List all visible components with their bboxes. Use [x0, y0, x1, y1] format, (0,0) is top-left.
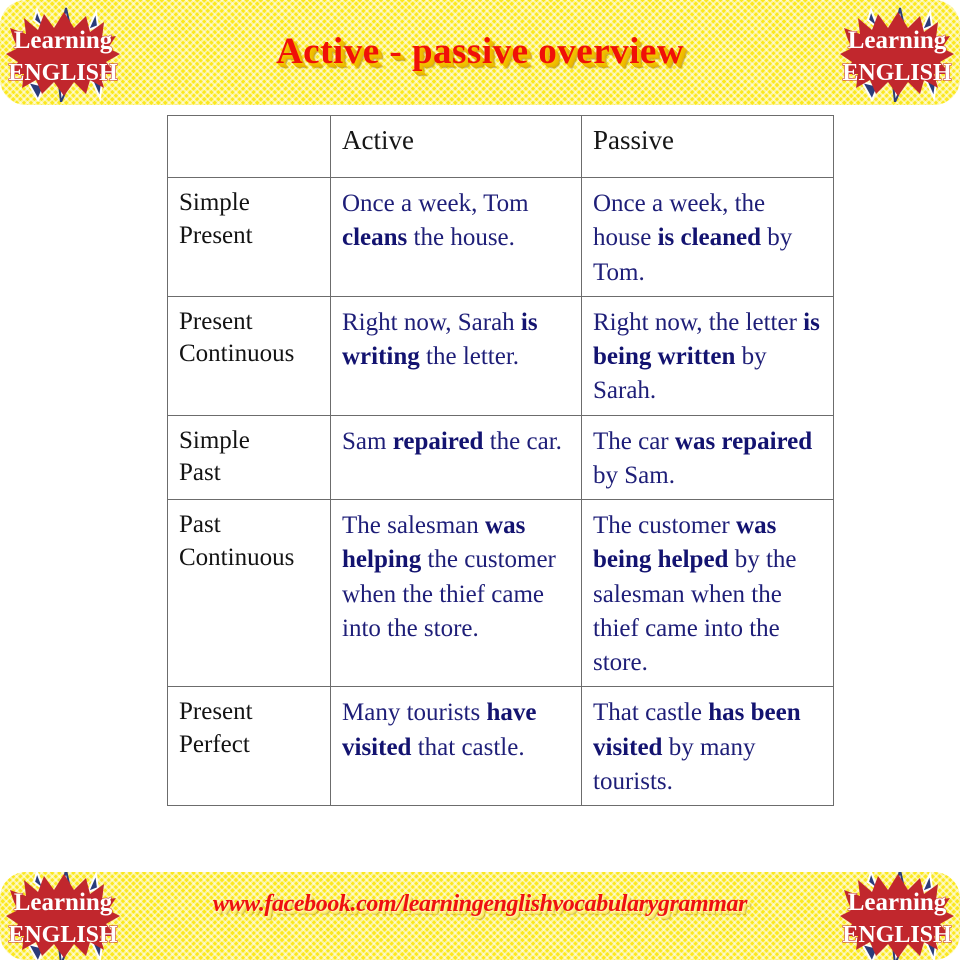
active-sentence-cell: Many tourists have visited that castle. — [331, 687, 582, 806]
table-body: Simple PresentOnce a week, Tom cleans th… — [168, 178, 834, 806]
page-title: Active - passive overview — [0, 30, 960, 73]
table-row: Simple PresentOnce a week, Tom cleans th… — [168, 178, 834, 297]
verb-phrase: is cleaned — [658, 224, 761, 251]
header-cell-passive: Passive — [582, 116, 834, 178]
logo-text-english: ENGLISH — [842, 922, 952, 948]
active-sentence-cell: Right now, Sarah is writing the letter. — [331, 296, 582, 415]
active-passive-table: Active Passive Simple PresentOnce a week… — [167, 115, 834, 806]
passive-sentence-cell: That castle has been visited by many tou… — [582, 687, 834, 806]
passive-sentence-cell: Once a week, the house is cleaned by Tom… — [582, 178, 834, 297]
active-sentence-cell: Sam repaired the car. — [331, 415, 582, 500]
logo-text-english: ENGLISH — [8, 922, 118, 948]
tense-cell: Simple Past — [168, 415, 331, 500]
table-row: Present PerfectMany tourists have visite… — [168, 687, 834, 806]
table-row: Past ContinuousThe salesman was helping … — [168, 500, 834, 687]
tense-cell: Past Continuous — [168, 500, 331, 687]
header-cell-active: Active — [331, 116, 582, 178]
verb-phrase: was repaired — [675, 428, 812, 455]
table-clip-region: Active Passive Simple PresentOnce a week… — [0, 0, 960, 872]
verb-phrase: is being written — [593, 309, 820, 370]
table-row: Simple PastSam repaired the car.The car … — [168, 415, 834, 500]
verb-phrase: cleans — [342, 224, 407, 251]
verb-phrase: repaired — [393, 428, 484, 455]
passive-sentence-cell: Right now, the letter is being written b… — [582, 296, 834, 415]
active-sentence-cell: Once a week, Tom cleans the house. — [331, 178, 582, 297]
facebook-url[interactable]: www.facebook.com/learningenglishvocabula… — [0, 891, 960, 918]
verb-phrase: has been visited — [593, 699, 801, 760]
table-row: Present ContinuousRight now, Sarah is wr… — [168, 296, 834, 415]
tense-cell: Simple Present — [168, 178, 331, 297]
tense-cell: Present Perfect — [168, 687, 331, 806]
tense-cell: Present Continuous — [168, 296, 331, 415]
verb-phrase: is writing — [342, 309, 538, 370]
passive-sentence-cell: The car was repaired by Sam. — [582, 415, 834, 500]
active-sentence-cell: The salesman was helping the customer wh… — [331, 500, 582, 687]
verb-phrase: was helping — [342, 512, 525, 573]
verb-phrase: have visited — [342, 699, 536, 760]
passive-sentence-cell: The customer was being helped by the sal… — [582, 500, 834, 687]
verb-phrase: was being helped — [593, 512, 776, 573]
table-header-row: Active Passive — [168, 116, 834, 178]
header-cell-blank — [168, 116, 331, 178]
